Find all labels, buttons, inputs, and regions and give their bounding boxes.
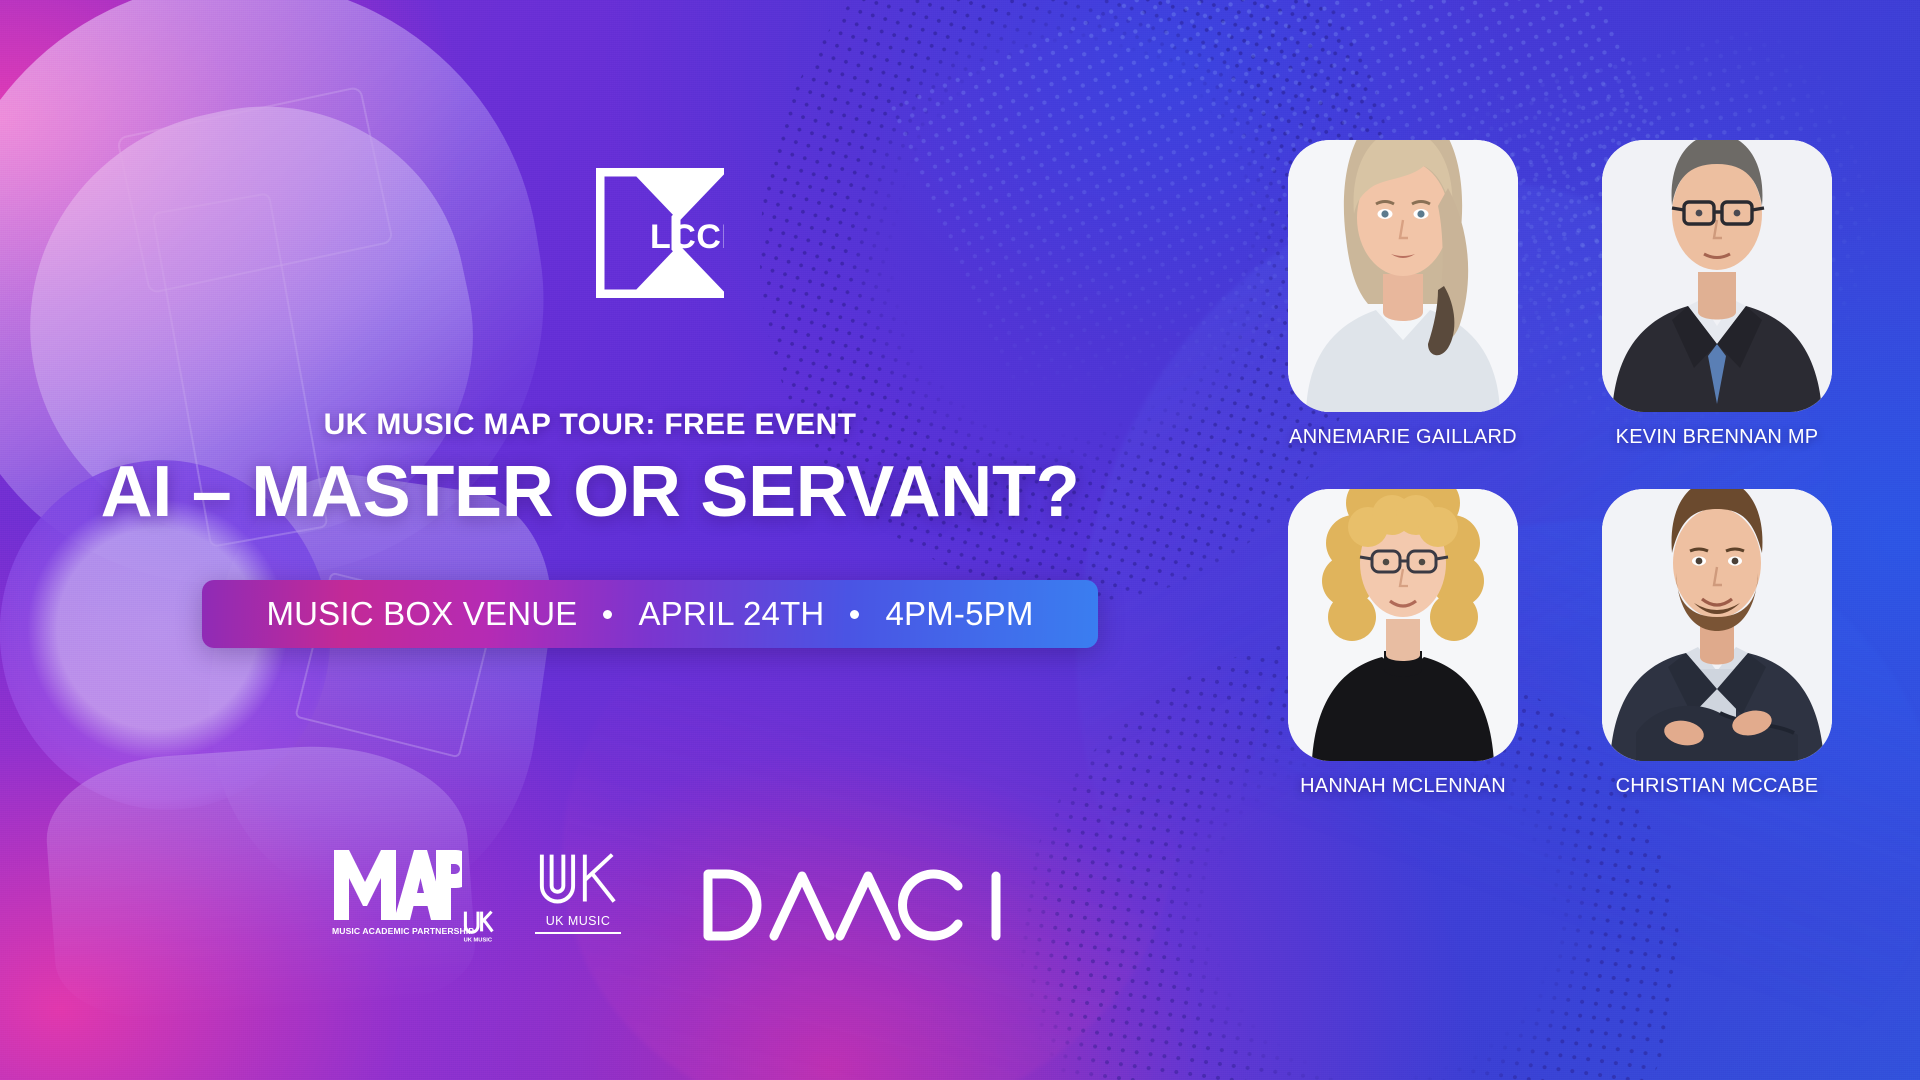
page-title: AI – MASTER OR SERVANT? (0, 456, 1180, 529)
map-logo-tagline: MUSIC ACADEMIC PARTNERSHIP (332, 926, 460, 936)
speaker-card: HANNAH MCLENNAN (1288, 489, 1518, 798)
speaker-photo-card (1602, 489, 1832, 761)
event-details-bar: MUSIC BOX VENUE APRIL 24TH 4PM-5PM (202, 580, 1098, 648)
headline-block: UK MUSIC MAP TOUR: FREE EVENT AI – MASTE… (0, 408, 1180, 529)
speaker-name: HANNAH MCLENNAN (1288, 775, 1518, 798)
portrait-christian-mccabe (1602, 489, 1832, 761)
map-logo: MUSIC ACADEMIC PARTNERSHIP UK MUSIC (332, 848, 480, 944)
speaker-row: HANNAH MCLENNAN (1288, 489, 1888, 798)
partner-logo-row: MUSIC ACADEMIC PARTNERSHIP UK MUSIC UK M… (332, 848, 1012, 944)
speaker-grid: ANNEMARIE GAILLARD (1288, 140, 1888, 798)
speaker-name: ANNEMARIE GAILLARD (1288, 426, 1518, 449)
portrait-hannah-mclennan (1288, 489, 1518, 761)
speaker-card: ANNEMARIE GAILLARD (1288, 140, 1518, 449)
map-uk-music-badge-icon: UK MUSIC (460, 908, 496, 944)
speaker-name: CHRISTIAN MCCABE (1602, 775, 1832, 798)
background-swoosh (495, 485, 1245, 1080)
uk-music-underline (535, 932, 621, 934)
speaker-photo-card (1602, 140, 1832, 412)
speaker-card: KEVIN BRENNAN MP (1602, 140, 1832, 449)
uk-music-wordmark: UK MUSIC (535, 914, 621, 928)
separator-dot-icon (603, 610, 612, 619)
portrait-annemarie-gaillard (1288, 140, 1518, 412)
portrait-kevin-brennan (1602, 140, 1832, 412)
speaker-photo-card (1288, 489, 1518, 761)
event-poster: LCCM UK MUSIC MAP TOUR: FREE EVENT AI – … (0, 0, 1920, 1080)
speaker-name: KEVIN BRENNAN MP (1602, 426, 1832, 449)
time-text: 4PM-5PM (885, 595, 1033, 633)
uk-music-logo: UK MUSIC (536, 852, 620, 944)
eyebrow-text: UK MUSIC MAP TOUR: FREE EVENT (0, 408, 1180, 442)
speaker-row: ANNEMARIE GAILLARD (1288, 140, 1888, 449)
lccm-logo: LCCM (596, 168, 724, 298)
speaker-card: CHRISTIAN MCCABE (1602, 489, 1832, 798)
date-text: APRIL 24TH (638, 595, 824, 633)
robot-panel-line (116, 86, 394, 294)
svg-text:UK MUSIC: UK MUSIC (464, 937, 492, 943)
daaci-logo (700, 866, 1012, 944)
venue-text: MUSIC BOX VENUE (266, 595, 577, 633)
speaker-photo-card (1288, 140, 1518, 412)
lccm-logo-text: LCCM (650, 218, 724, 256)
separator-dot-icon (850, 610, 859, 619)
